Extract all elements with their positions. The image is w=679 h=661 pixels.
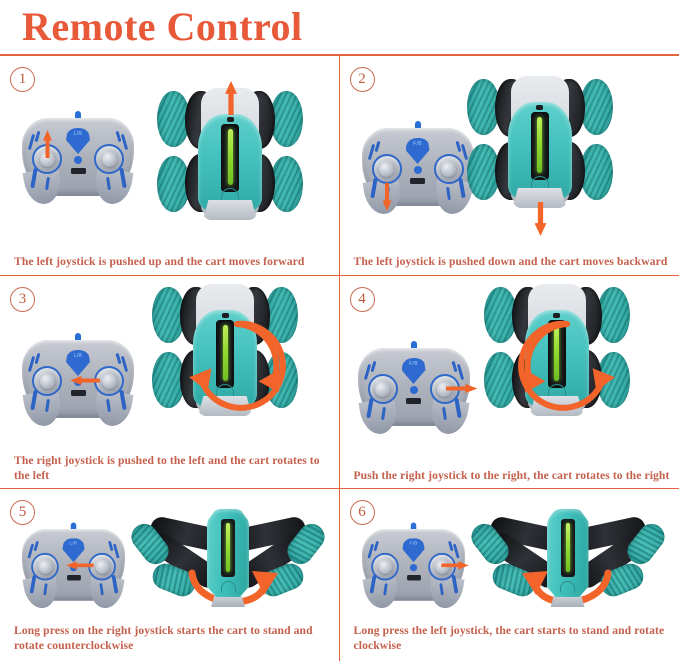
right-joystick[interactable] <box>434 154 464 184</box>
joystick-knob <box>95 560 109 574</box>
stunt-car-6 <box>468 509 668 609</box>
left-joystick[interactable] <box>372 154 402 184</box>
panel-caption: Long press on the right joystick starts … <box>14 623 331 653</box>
car-skirt <box>203 200 257 220</box>
car-nub <box>222 313 229 318</box>
panel-caption: The left joystick is pushed down and the… <box>354 254 672 269</box>
panel-5: 5 <box>0 489 340 661</box>
remote-control-5: L/R <box>22 529 125 601</box>
car-nub <box>227 117 234 122</box>
remote-control-1: L/R <box>22 118 134 196</box>
illustration-1: L/R <box>0 56 339 275</box>
car-logo-icon <box>531 176 549 190</box>
car-logo-icon <box>548 384 566 398</box>
joystick-knob <box>375 382 390 397</box>
illustration-2: F/B <box>340 56 679 275</box>
car-led-strip <box>554 325 559 381</box>
remote-control-6: F/B <box>362 529 465 601</box>
remote-control-4: F/B <box>358 348 470 426</box>
panel-4: 4 <box>340 276 679 488</box>
remote-battery-slot <box>71 168 86 174</box>
remote-badge-label-2: F/B <box>402 541 424 547</box>
joystick-knob <box>102 152 117 167</box>
panel-2: 2 <box>340 56 679 275</box>
remote-battery-slot <box>71 390 86 396</box>
remote-badge-label-1: L/R <box>62 541 84 547</box>
joystick-knob <box>40 374 55 389</box>
panel-caption: The left joystick is pushed up and the c… <box>14 254 331 269</box>
car-led-strip <box>537 117 542 173</box>
car-skirt <box>530 396 584 416</box>
car-led-strip <box>228 129 233 185</box>
remote-battery-slot <box>406 575 420 581</box>
car-led-strip <box>223 325 228 381</box>
left-joystick[interactable] <box>31 553 59 581</box>
car-logo-icon <box>221 581 236 593</box>
car-nub <box>553 313 560 318</box>
car-top-view <box>482 282 632 414</box>
instruction-row: 5 <box>0 489 679 661</box>
page-title: Remote Control <box>22 2 303 52</box>
remote-battery-slot <box>67 575 81 581</box>
left-joystick[interactable] <box>32 366 62 396</box>
car-skirt <box>198 396 252 416</box>
stunt-car-3 <box>150 282 300 414</box>
joystick-knob <box>441 162 456 177</box>
car-standing-view <box>468 509 668 609</box>
joystick-knob <box>378 560 392 574</box>
car-logo-icon <box>216 384 234 398</box>
remote-battery-slot <box>410 178 425 184</box>
panel-3: 3 <box>0 276 340 488</box>
car-standing-view <box>128 509 328 609</box>
stunt-car-4 <box>482 282 632 414</box>
instruction-sheet: Remote Control 1 <box>0 0 679 661</box>
stunt-car-5 <box>128 509 328 609</box>
remote-control-3: L/R <box>22 340 134 418</box>
car-top-view <box>465 74 615 206</box>
remote-battery-slot <box>406 398 421 404</box>
car-logo-icon <box>221 188 239 202</box>
panel-caption: The right joystick is pushed to the left… <box>14 453 331 483</box>
remote-badge-label-2: F/B <box>402 361 426 368</box>
instruction-row: 3 <box>0 276 679 489</box>
right-joystick[interactable] <box>94 144 124 174</box>
panel-caption: Push the right joystick to the right, th… <box>354 468 672 483</box>
car-logo-icon <box>560 581 575 593</box>
car-top-view <box>150 282 300 414</box>
instruction-grid: 1 <box>0 54 679 661</box>
car-led-strip <box>226 523 230 572</box>
illustration-4: F/B <box>340 276 679 488</box>
remote-badge-label-1: L/R <box>66 353 90 360</box>
car-led-strip <box>566 523 570 572</box>
stunt-car-2 <box>465 74 615 206</box>
remote-center-button[interactable] <box>74 156 82 164</box>
remote-center-button[interactable] <box>410 386 418 394</box>
panel-caption: Long press the left joystick, the cart s… <box>354 623 672 653</box>
remote-center-button[interactable] <box>409 564 416 571</box>
left-joystick[interactable] <box>371 553 399 581</box>
remote-control-2: F/B <box>362 128 474 206</box>
remote-center-button[interactable] <box>414 166 422 174</box>
panel-6: 6 <box>340 489 679 661</box>
remote-badge-label-1: L/R <box>66 131 90 138</box>
joystick-knob <box>38 560 52 574</box>
joystick-knob <box>102 374 117 389</box>
joystick-knob <box>379 162 394 177</box>
instruction-row: 1 <box>0 56 679 276</box>
panel-1: 1 <box>0 56 340 275</box>
remote-badge-label-2: F/B <box>406 141 430 148</box>
car-nub <box>536 105 543 110</box>
left-joystick[interactable] <box>368 374 398 404</box>
